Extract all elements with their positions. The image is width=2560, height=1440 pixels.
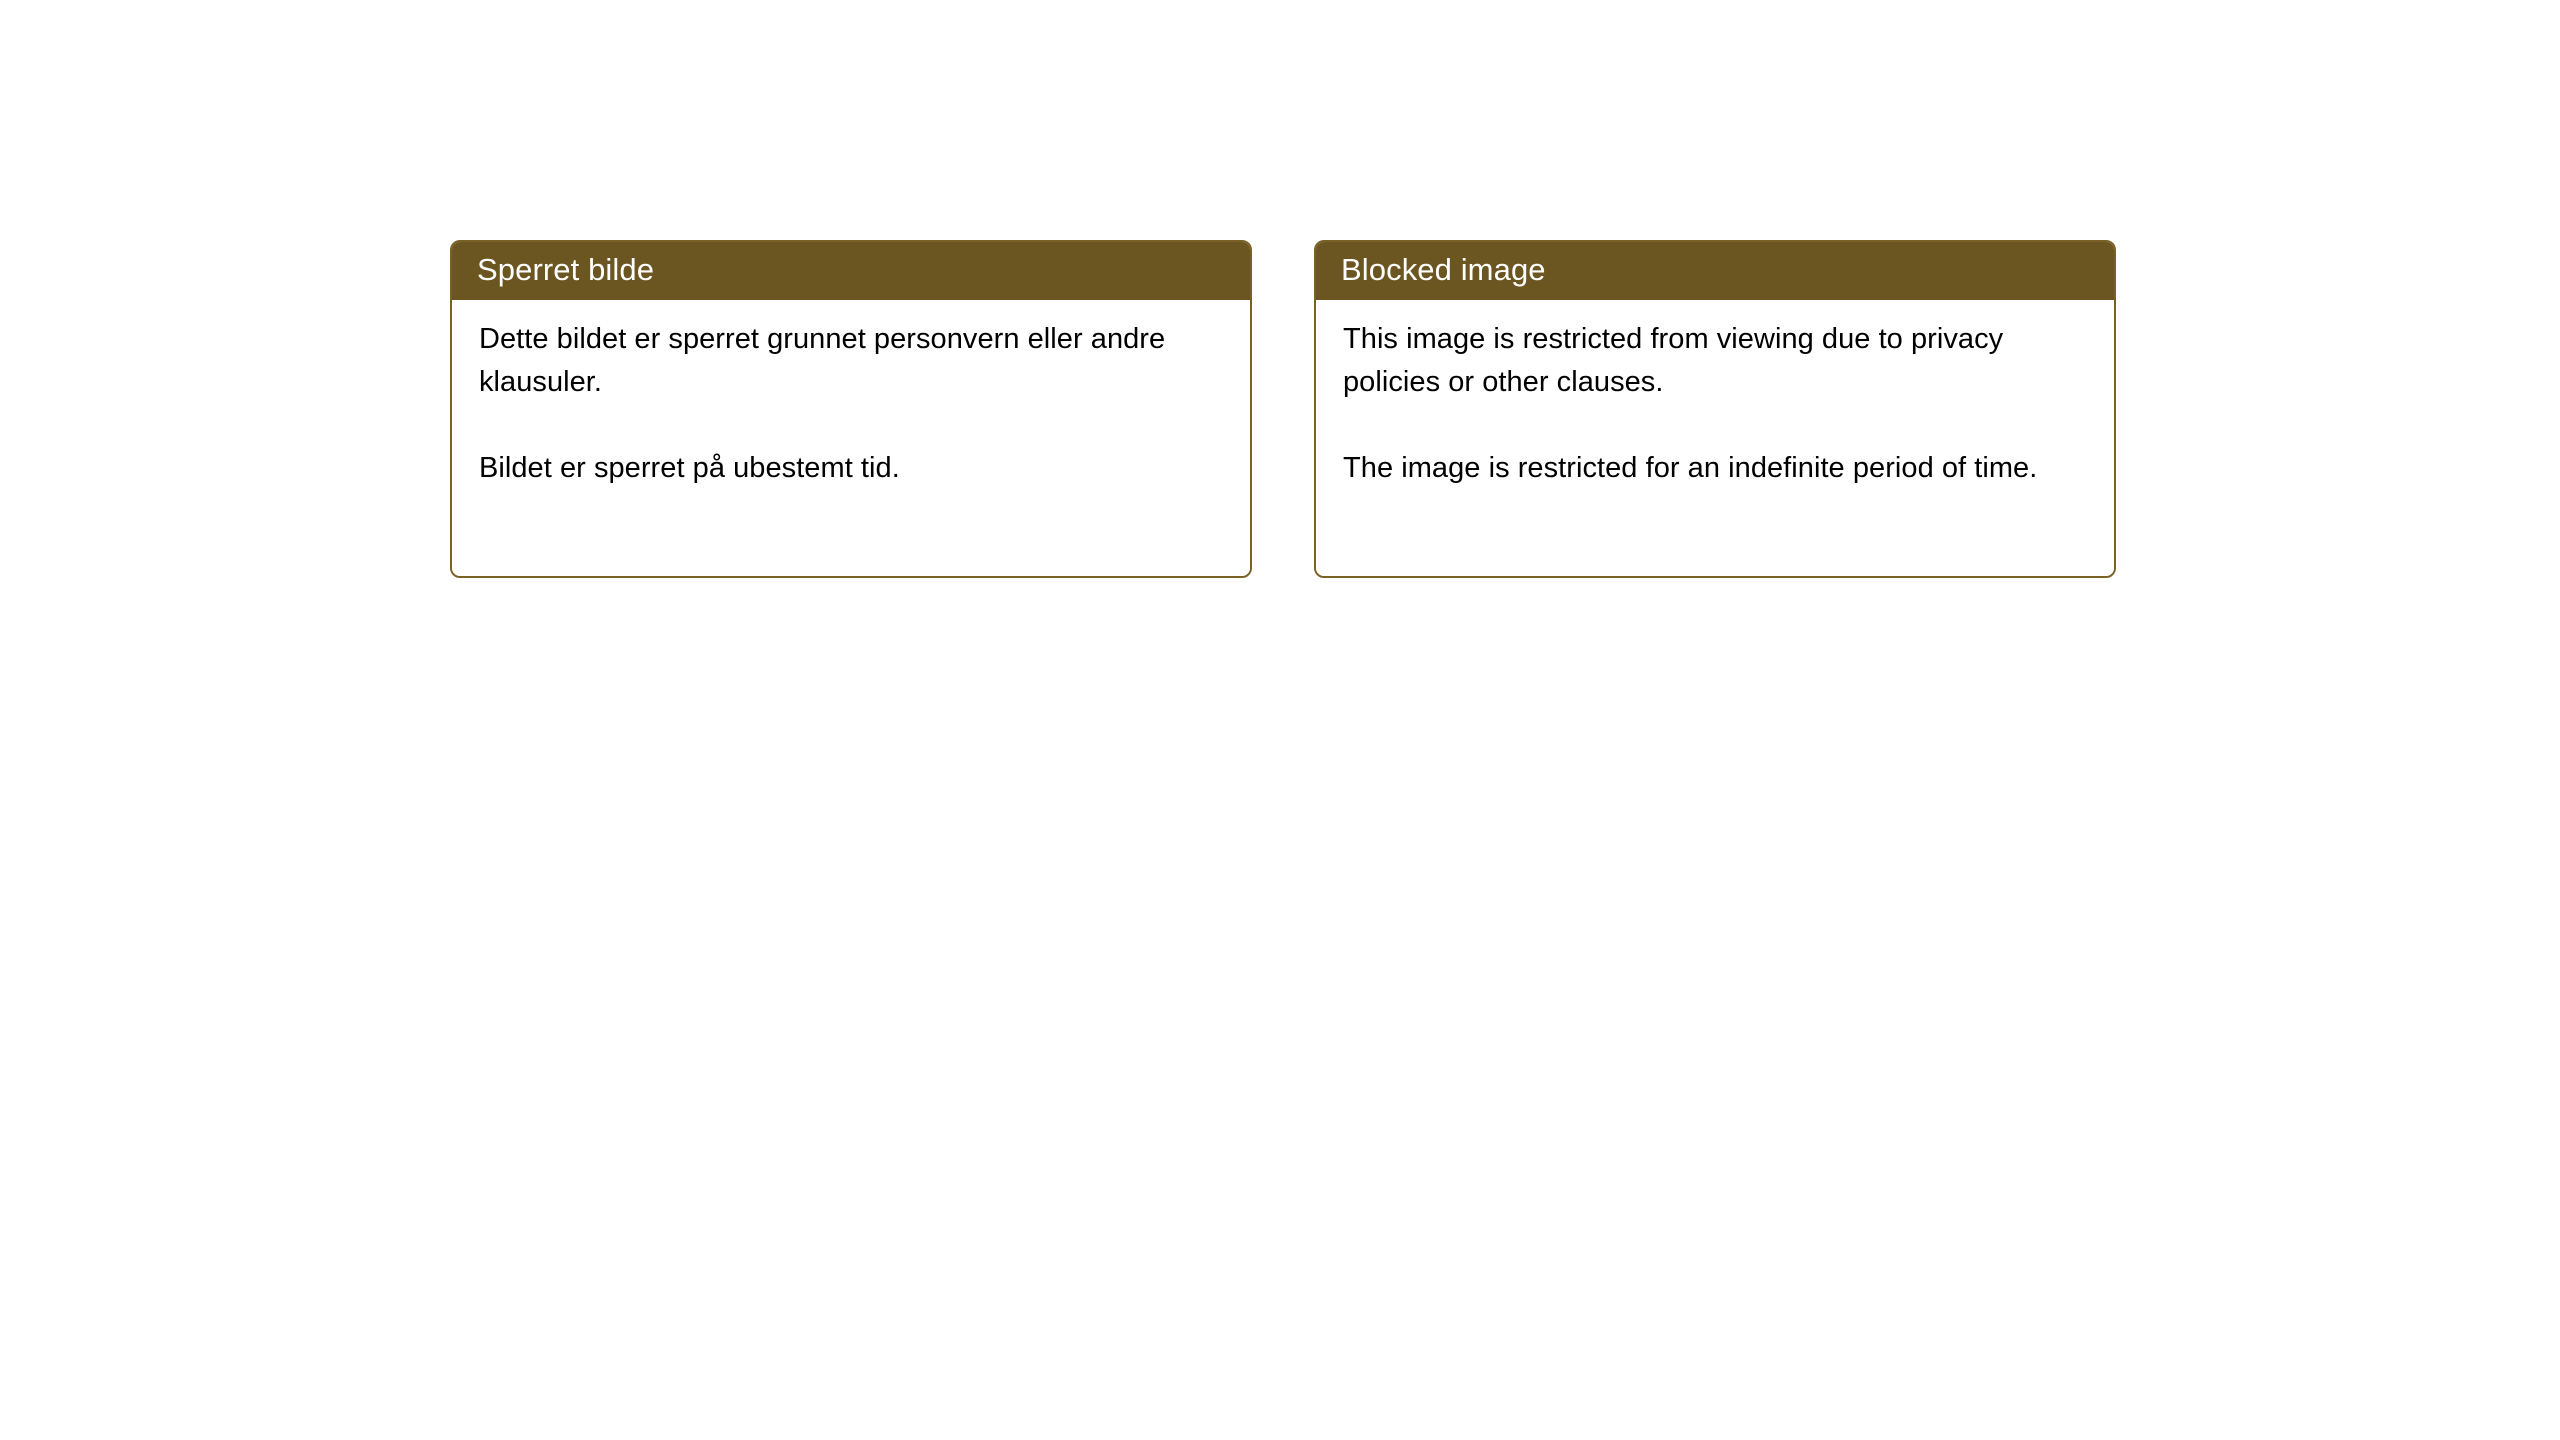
blocked-image-card-norwegian: Sperret bilde Dette bildet er sperret gr… [450,240,1252,578]
card-header-english: Blocked image [1314,240,2116,300]
card-title-english: Blocked image [1341,252,1546,288]
card-title-norwegian: Sperret bilde [477,252,654,288]
card-paragraph-secondary-norwegian: Bildet er sperret på ubestemt tid. [479,447,1226,490]
card-body-norwegian: Dette bildet er sperret grunnet personve… [452,300,1250,576]
card-paragraph-secondary-english: The image is restricted for an indefinit… [1343,447,2090,490]
card-paragraph-primary-norwegian: Dette bildet er sperret grunnet personve… [479,318,1226,404]
blocked-image-card-english: Blocked image This image is restricted f… [1314,240,2116,578]
card-paragraph-primary-english: This image is restricted from viewing du… [1343,318,2090,404]
blocked-image-notice-group: Sperret bilde Dette bildet er sperret gr… [450,240,2116,578]
card-body-english: This image is restricted from viewing du… [1316,300,2114,576]
card-header-norwegian: Sperret bilde [450,240,1252,300]
page-root: Sperret bilde Dette bildet er sperret gr… [0,0,2560,1440]
